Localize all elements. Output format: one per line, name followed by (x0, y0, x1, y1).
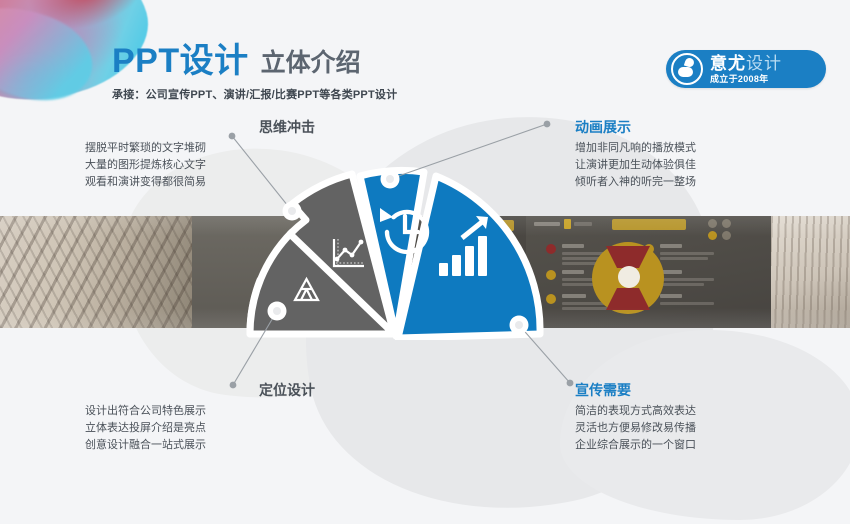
block-line-2: 立体表达投屏介绍是亮点 (85, 420, 315, 437)
text-block-xuan-chuan-xu-yao: 宣传需要 简洁的表现方式高效表达 灵活也方便易修改易传播 企业综合展示的一个窗口 (575, 383, 805, 454)
header: PPT设计 立体介绍 承接：公司宣传PPT、演讲/汇报/比赛PPT等各类PPT设… (0, 0, 850, 110)
block-heading: 思维冲击 (85, 120, 315, 134)
block-line-3: 企业综合展示的一个窗口 (575, 437, 805, 454)
block-line-1: 增加非同凡响的播放模式 (575, 140, 805, 157)
text-block-dong-hua-zhan-shi: 动画展示 增加非同凡响的播放模式 让演讲更加生动体验俱佳 倾听者入神的听完一整场 (575, 120, 805, 191)
title-description: 承接：公司宣传PPT、演讲/汇报/比赛PPT等各类PPT设计 (112, 86, 397, 102)
circle-mouse-icon (671, 53, 703, 85)
block-heading: 宣传需要 (575, 383, 805, 397)
block-line-2: 大量的图形提炼核心文字 (85, 157, 315, 174)
block-line-1: 设计出符合公司特色展示 (85, 403, 315, 420)
title-main: PPT设计 (112, 44, 249, 78)
block-heading: 定位设计 (85, 383, 315, 397)
logo-name-bold: 意尤 (710, 54, 746, 73)
brand-logo[interactable]: 意尤设计 成立于2008年 (666, 50, 826, 88)
logo-name-light: 设计 (746, 54, 782, 73)
text-block-ding-wei-she-ji: 定位设计 设计出符合公司特色展示 立体表达投屏介绍是亮点 创意设计融合一站式展示 (85, 383, 315, 454)
logo-tagline: 成立于2008年 (710, 75, 782, 84)
logo-text: 意尤设计 成立于2008年 (710, 55, 782, 84)
block-line-3: 观看和演讲变得都很简易 (85, 174, 315, 191)
title-sub: 立体介绍 (261, 51, 361, 78)
block-line-1: 摆脱平时繁琐的文字堆砌 (85, 140, 315, 157)
block-line-3: 创意设计融合一站式展示 (85, 437, 315, 454)
block-line-1: 简洁的表现方式高效表达 (575, 403, 805, 420)
block-line-2: 让演讲更加生动体验俱佳 (575, 157, 805, 174)
slide-canvas: PPT设计 立体介绍 承接：公司宣传PPT、演讲/汇报/比赛PPT等各类PPT设… (0, 0, 850, 524)
block-line-3: 倾听者入神的听完一整场 (575, 174, 805, 191)
logo-name: 意尤设计 (710, 55, 782, 72)
block-heading: 动画展示 (575, 120, 805, 134)
block-line-2: 灵活也方便易修改易传播 (575, 420, 805, 437)
page-title: PPT设计 立体介绍 (112, 44, 361, 78)
text-block-si-wei-chong-ji: 思维冲击 摆脱平时繁琐的文字堆砌 大量的图形提炼核心文字 观看和演讲变得都很简易 (85, 120, 315, 191)
